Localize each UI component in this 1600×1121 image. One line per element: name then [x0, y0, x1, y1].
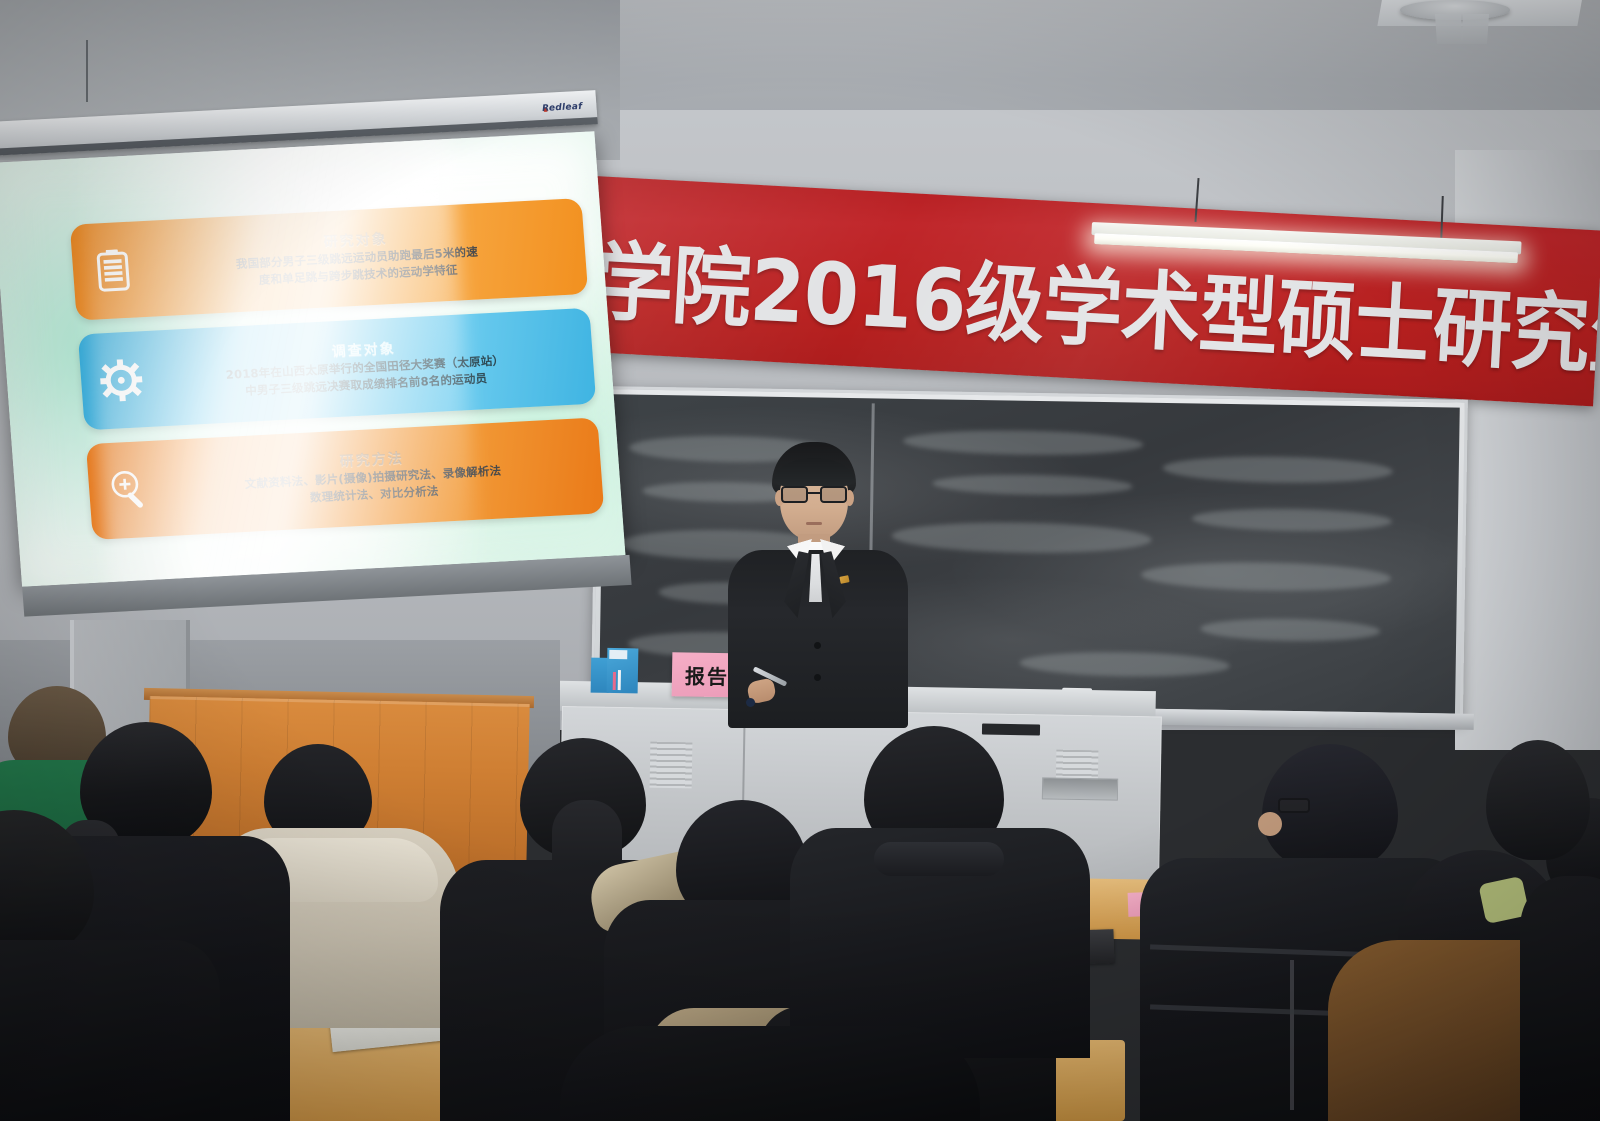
- screen-brand-label: Redleaf: [542, 102, 583, 114]
- pointer-tip: [746, 698, 755, 707]
- audience-head: [1486, 740, 1590, 860]
- fan-rod: [86, 40, 88, 102]
- audience-torso: [1520, 876, 1600, 1121]
- box-graphic: [618, 670, 621, 690]
- glasses-lens: [781, 486, 808, 503]
- jacket-seam: [1290, 960, 1294, 1110]
- slide-content: 研究对象 我国部分男子三级跳远运动员助跑最后5米的速 度和单足跳与跨步跳技术的运…: [0, 131, 625, 586]
- battery-icon: [90, 248, 137, 294]
- glasses-bridge: [808, 492, 820, 494]
- audience-torso: [0, 940, 220, 1121]
- slide-bar-research-object: 研究对象 我国部分男子三级跳远运动员助跑最后5米的速 度和单足跳与跨步跳技术的运…: [70, 198, 588, 321]
- classroom-photo: 学院2016级学术型硕士研究生开题报告会 R: [0, 0, 1600, 1121]
- screen-surface: 研究对象 我国部分男子三级跳远运动员助跑最后5米的速 度和单足跳与跨步跳技术的运…: [0, 131, 625, 586]
- fan-blade: [1435, 14, 1463, 44]
- suit-button: [814, 674, 821, 681]
- magnifier-plus-icon: [106, 467, 153, 513]
- glasses-icon: [1278, 798, 1310, 813]
- slide-bar-research-method: 研究方法 文献资料法、影片(摄像)拍摄研究法、录像解析法 数理统计法、对比分析法: [86, 417, 604, 540]
- blue-supply-box: [591, 648, 639, 694]
- jacket-collar: [874, 842, 1004, 876]
- slide-bar-survey-subject: 调查对象 2018年在山西太原举行的全国田径大奖赛（太原站） 中男子三级跳远决赛…: [78, 308, 596, 431]
- presenter-mouth: [806, 522, 822, 525]
- glasses-lens: [820, 486, 847, 503]
- audience-torso: [560, 1026, 980, 1121]
- box-top-label: [609, 650, 627, 659]
- podium-equipment-slot: [1042, 777, 1118, 800]
- ceiling-fan-icon: [1400, 0, 1510, 24]
- glasses-icon: [780, 486, 848, 503]
- podium-vent: [650, 742, 693, 789]
- podium-label-plate: [982, 723, 1040, 735]
- projector-screen: Redleaf: [0, 90, 630, 591]
- audience-ear: [1258, 812, 1282, 836]
- gear-icon: [98, 357, 145, 403]
- fan-blade: [1461, 14, 1489, 44]
- box-graphic: [613, 672, 616, 690]
- presenter: [718, 442, 918, 727]
- suit-button: [814, 642, 821, 649]
